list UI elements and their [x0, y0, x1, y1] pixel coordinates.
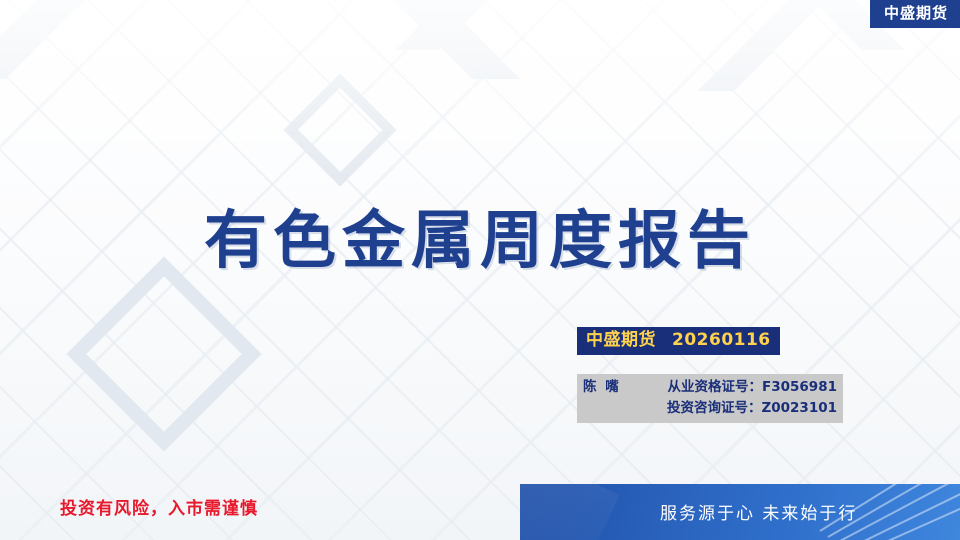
consult-cert-number: Z0023101	[761, 398, 837, 419]
slide: 中盛期货 有色金属周度报告 中盛期货20260116 陈 嘴 从业资格证号： F…	[0, 0, 960, 540]
certification-row-consult: 投资咨询证号： Z0023101	[583, 398, 837, 419]
practice-cert-label: 从业资格证号：	[668, 377, 763, 398]
brand-tag: 中盛期货	[870, 0, 960, 28]
date-banner: 中盛期货20260116	[577, 327, 780, 355]
practice-cert-number: F3056981	[762, 377, 837, 398]
certification-row-practice: 陈 嘴 从业资格证号： F3056981	[583, 377, 837, 398]
footer-decorative-lines	[810, 484, 960, 540]
page-title: 有色金属周度报告	[0, 190, 960, 281]
risk-warning-text: 投资有风险，入市需谨慎	[60, 494, 258, 519]
consult-cert-label: 投资咨询证号：	[667, 398, 762, 419]
author-name: 陈 嘴	[583, 377, 621, 398]
certification-block: 陈 嘴 从业资格证号： F3056981 投资咨询证号： Z0023101	[577, 374, 843, 423]
date-banner-date: 20260116	[672, 330, 771, 350]
background-highlight-wash	[0, 0, 960, 200]
date-banner-company: 中盛期货	[586, 330, 656, 350]
footer-banner: 服务源于心 未来始于行	[520, 484, 960, 540]
